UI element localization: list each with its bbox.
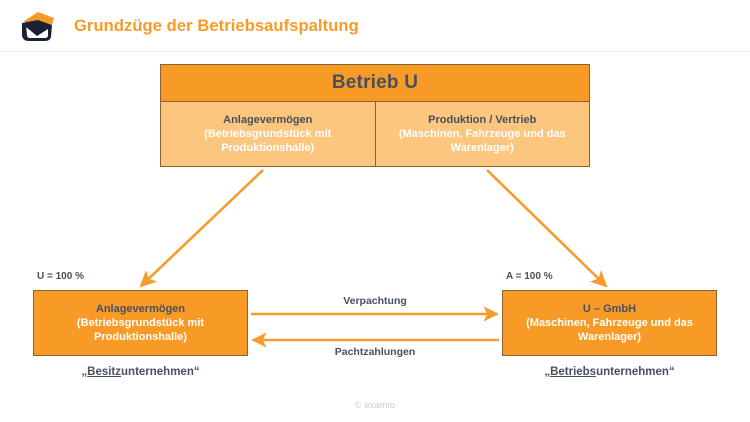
page-title: Grundzüge der Betriebsaufspaltung [74, 0, 359, 52]
footer-copyright: © examio [0, 400, 750, 410]
page-header: Grundzüge der Betriebsaufspaltung [0, 0, 750, 52]
right-entity-head: U – GmbH [583, 302, 636, 316]
left-entity-box: Anlagevermögen (Betriebsgrundstück mit P… [33, 290, 248, 356]
top-cell-anlagevermoegen-head: Anlagevermögen [223, 113, 312, 127]
right-entity-box: U – GmbH (Maschinen, Fahrzeuge und das W… [502, 290, 717, 356]
right-entity-caption-underlined: Betriebs [550, 366, 596, 378]
right-entity-caption: „Betriebsunternehmen“ [502, 366, 717, 378]
left-entity-head: Anlagevermögen [96, 302, 185, 316]
arrow-anlagevermoegen-to-besitz [141, 170, 263, 286]
left-entity-sub: (Betriebsgrundstück mit Produktionshalle… [40, 316, 241, 344]
top-cell-anlagevermoegen-sub: (Betriebsgrundstück mit Produktionshalle… [165, 127, 371, 155]
top-cell-produktion-vertrieb: Produktion / Vertrieb (Maschinen, Fahrze… [376, 102, 590, 166]
right-share-label: A = 100 % [506, 271, 553, 282]
right-entity-sub: (Maschinen, Fahrzeuge und das Warenlager… [509, 316, 710, 344]
left-entity-caption-rest: unternehmen [121, 366, 194, 378]
arrow-produktion-to-betriebs [487, 170, 606, 286]
verpachtung-label: Verpachtung [260, 295, 490, 307]
right-entity-caption-rest: unternehmen [596, 366, 669, 378]
examio-logo [18, 10, 60, 44]
top-cell-produktion-vertrieb-sub: (Maschinen, Fahrzeuge und das Warenlager… [380, 127, 586, 155]
top-entity-title: Betrieb U [160, 64, 590, 102]
left-entity-caption: „Besitzunternehmen“ [33, 366, 248, 378]
top-cell-anlagevermoegen: Anlagevermögen (Betriebsgrundstück mit P… [161, 102, 376, 166]
left-share-label: U = 100 % [37, 271, 84, 282]
diagram-canvas: Betrieb U Anlagevermögen (Betriebsgrunds… [0, 52, 750, 422]
pachtzahlungen-label: Pachtzahlungen [260, 346, 490, 358]
top-cell-produktion-vertrieb-head: Produktion / Vertrieb [428, 113, 536, 127]
top-entity-cells: Anlagevermögen (Betriebsgrundstück mit P… [160, 102, 590, 167]
top-entity-box: Betrieb U Anlagevermögen (Betriebsgrunds… [160, 64, 590, 167]
left-entity-caption-underlined: Besitz [87, 366, 121, 378]
